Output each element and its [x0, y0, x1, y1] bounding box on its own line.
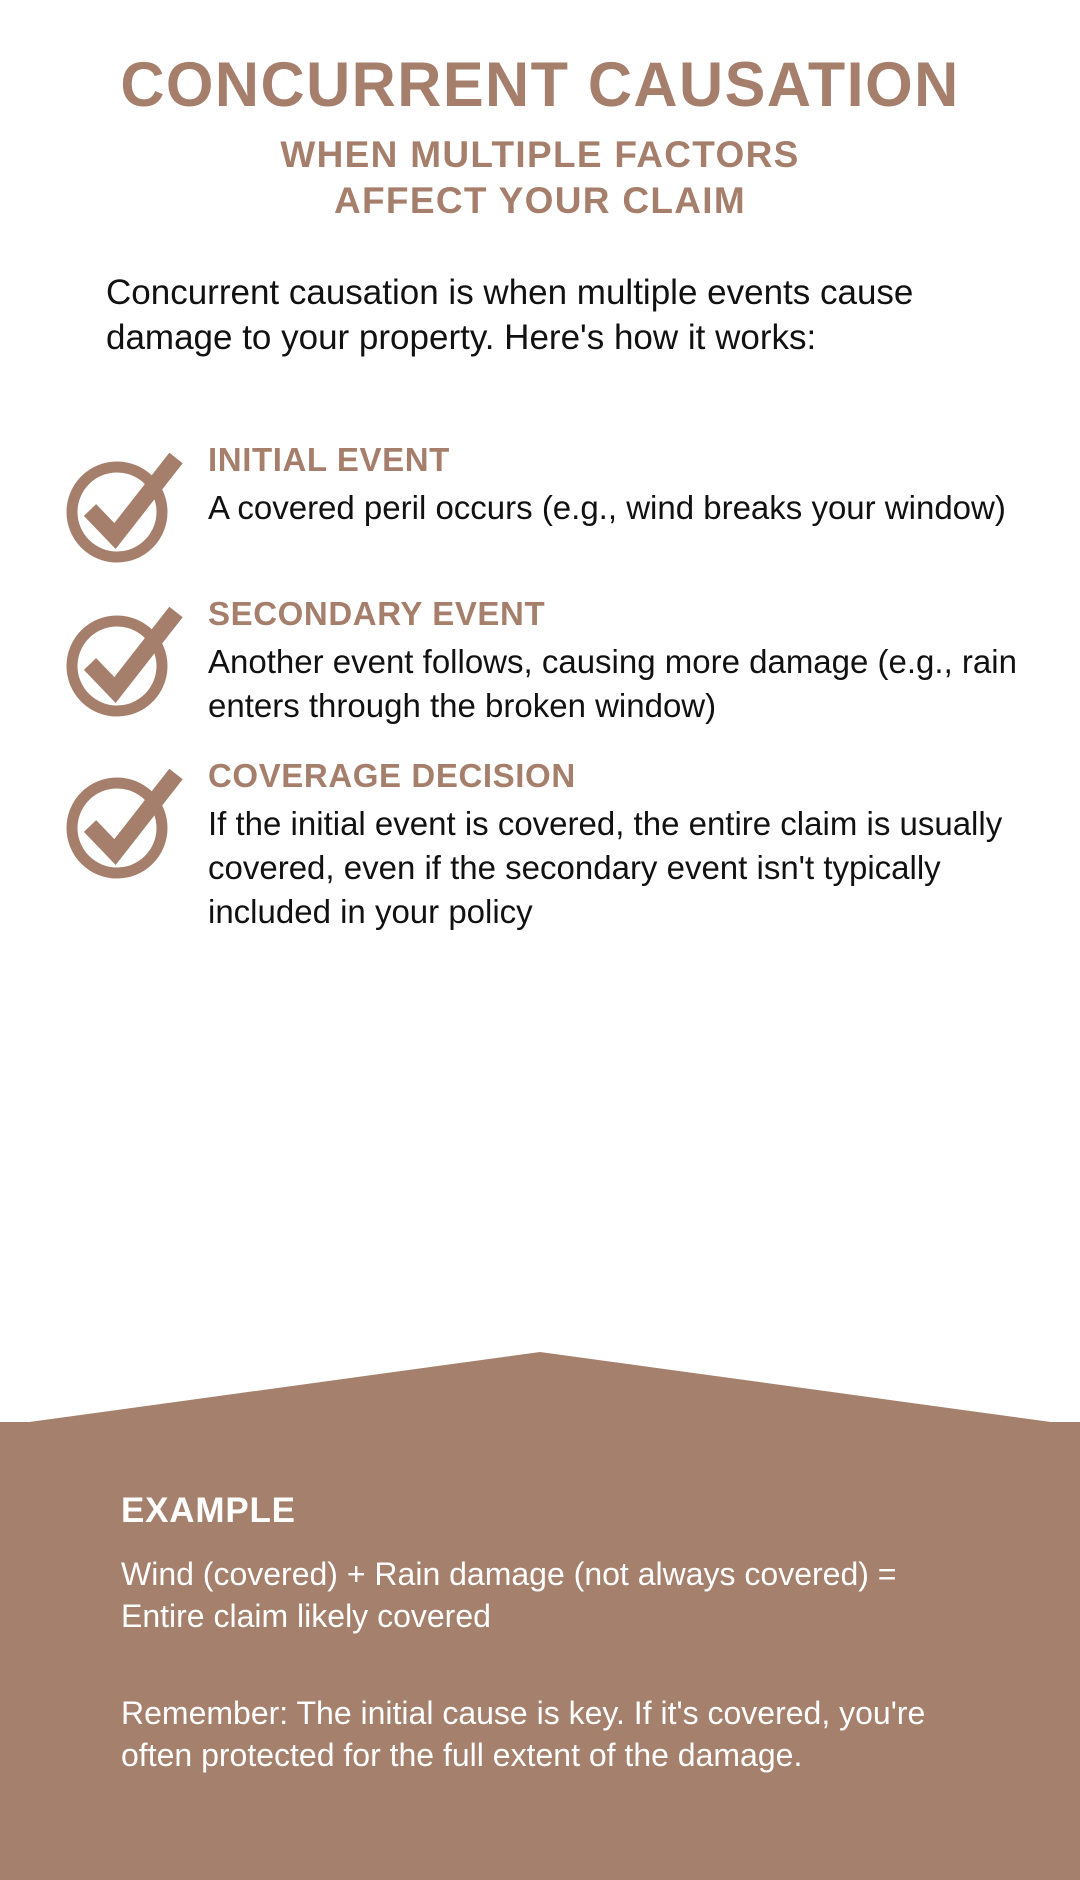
page-title: CONCURRENT CAUSATION: [16, 52, 1064, 118]
list-item-body: COVERAGE DECISION If the initial event i…: [182, 752, 1020, 934]
check-circle-icon: [62, 764, 182, 882]
list-item-text: Another event follows, causing more dama…: [208, 640, 1020, 728]
page-subtitle: WHEN MULTIPLE FACTORS AFFECT YOUR CLAIM: [140, 132, 940, 225]
footer-remember-text: Remember: The initial cause is key. If i…: [121, 1692, 970, 1777]
list-item-title: SECONDARY EVENT: [208, 596, 1020, 632]
list-item-body: INITIAL EVENT A covered peril occurs (e.…: [182, 436, 1020, 530]
footer-content: EXAMPLE Wind (covered) + Rain damage (no…: [0, 1422, 1080, 1880]
list-item: INITIAL EVENT A covered peril occurs (e.…: [0, 436, 1080, 566]
footer-peak-shape: [0, 1350, 1080, 1426]
page-subtitle-line-2: AFFECT YOUR CLAIM: [180, 178, 900, 224]
footer-heading: EXAMPLE: [121, 1492, 970, 1531]
list-item-body: SECONDARY EVENT Another event follows, c…: [182, 590, 1020, 728]
header: CONCURRENT CAUSATION WHEN MULTIPLE FACTO…: [0, 0, 1080, 225]
list-item-title: INITIAL EVENT: [208, 442, 1020, 478]
list-item: COVERAGE DECISION If the initial event i…: [0, 752, 1080, 934]
footer-example-text: Wind (covered) + Rain damage (not always…: [121, 1553, 970, 1638]
list-item: SECONDARY EVENT Another event follows, c…: [0, 590, 1080, 728]
list-item-text: A covered peril occurs (e.g., wind break…: [208, 486, 1020, 530]
footer-panel: EXAMPLE Wind (covered) + Rain damage (no…: [0, 1350, 1080, 1880]
check-circle-icon: [62, 448, 182, 566]
list-item-text: If the initial event is covered, the ent…: [208, 802, 1020, 934]
check-circle-icon: [62, 602, 182, 720]
steps-list: INITIAL EVENT A covered peril occurs (e.…: [0, 436, 1080, 934]
intro-paragraph: Concurrent causation is when multiple ev…: [0, 270, 1080, 361]
page-subtitle-line-1: WHEN MULTIPLE FACTORS: [180, 132, 900, 178]
list-item-title: COVERAGE DECISION: [208, 758, 1020, 794]
